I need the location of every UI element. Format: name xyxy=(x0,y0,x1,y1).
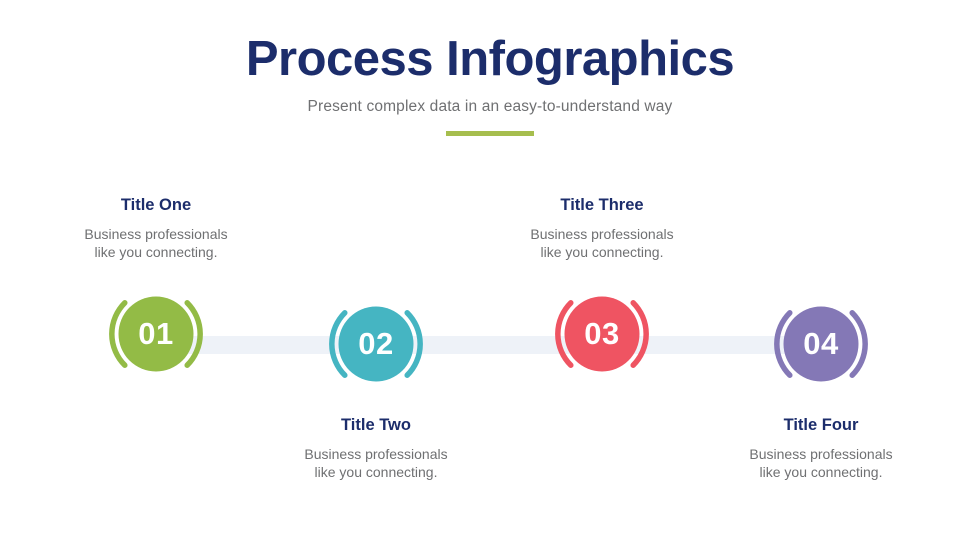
step-marker[interactable]: 02 xyxy=(320,288,432,400)
step-number: 03 xyxy=(546,278,658,390)
step-description: Business professionals like you connecti… xyxy=(261,445,491,482)
step-description-line-1: Business professionals xyxy=(487,225,717,244)
step-marker[interactable]: 04 xyxy=(765,288,877,400)
process-step-4[interactable]: 04 Title Four Business professionals lik… xyxy=(706,288,936,482)
step-description: Business professionals like you connecti… xyxy=(41,225,271,262)
step-text-block: Title One Business professionals like yo… xyxy=(41,196,271,262)
step-text-block: Title Two Business professionals like yo… xyxy=(261,416,491,482)
step-number: 01 xyxy=(100,278,212,390)
step-marker[interactable]: 01 xyxy=(100,278,212,390)
step-description-line-2: like you connecting. xyxy=(487,243,717,262)
step-title: Title One xyxy=(41,196,271,216)
step-marker[interactable]: 03 xyxy=(546,278,658,390)
step-description: Business professionals like you connecti… xyxy=(487,225,717,262)
step-description-line-2: like you connecting. xyxy=(261,463,491,482)
process-steps: Title One Business professionals like yo… xyxy=(0,0,980,551)
infographic-slide: Process Infographics Present complex dat… xyxy=(0,0,980,551)
step-number: 02 xyxy=(320,288,432,400)
step-text-block: Title Four Business professionals like y… xyxy=(706,416,936,482)
step-description-line-2: like you connecting. xyxy=(41,243,271,262)
step-description-line-1: Business professionals xyxy=(706,445,936,464)
process-step-3[interactable]: Title Three Business professionals like … xyxy=(487,196,717,390)
step-description: Business professionals like you connecti… xyxy=(706,445,936,482)
step-description-line-1: Business professionals xyxy=(261,445,491,464)
step-text-block: Title Three Business professionals like … xyxy=(487,196,717,262)
step-description-line-1: Business professionals xyxy=(41,225,271,244)
step-number: 04 xyxy=(765,288,877,400)
step-title: Title Four xyxy=(706,416,936,436)
step-title: Title Two xyxy=(261,416,491,436)
step-title: Title Three xyxy=(487,196,717,216)
process-step-1[interactable]: Title One Business professionals like yo… xyxy=(41,196,271,390)
step-description-line-2: like you connecting. xyxy=(706,463,936,482)
process-step-2[interactable]: 02 Title Two Business professionals like… xyxy=(261,288,491,482)
